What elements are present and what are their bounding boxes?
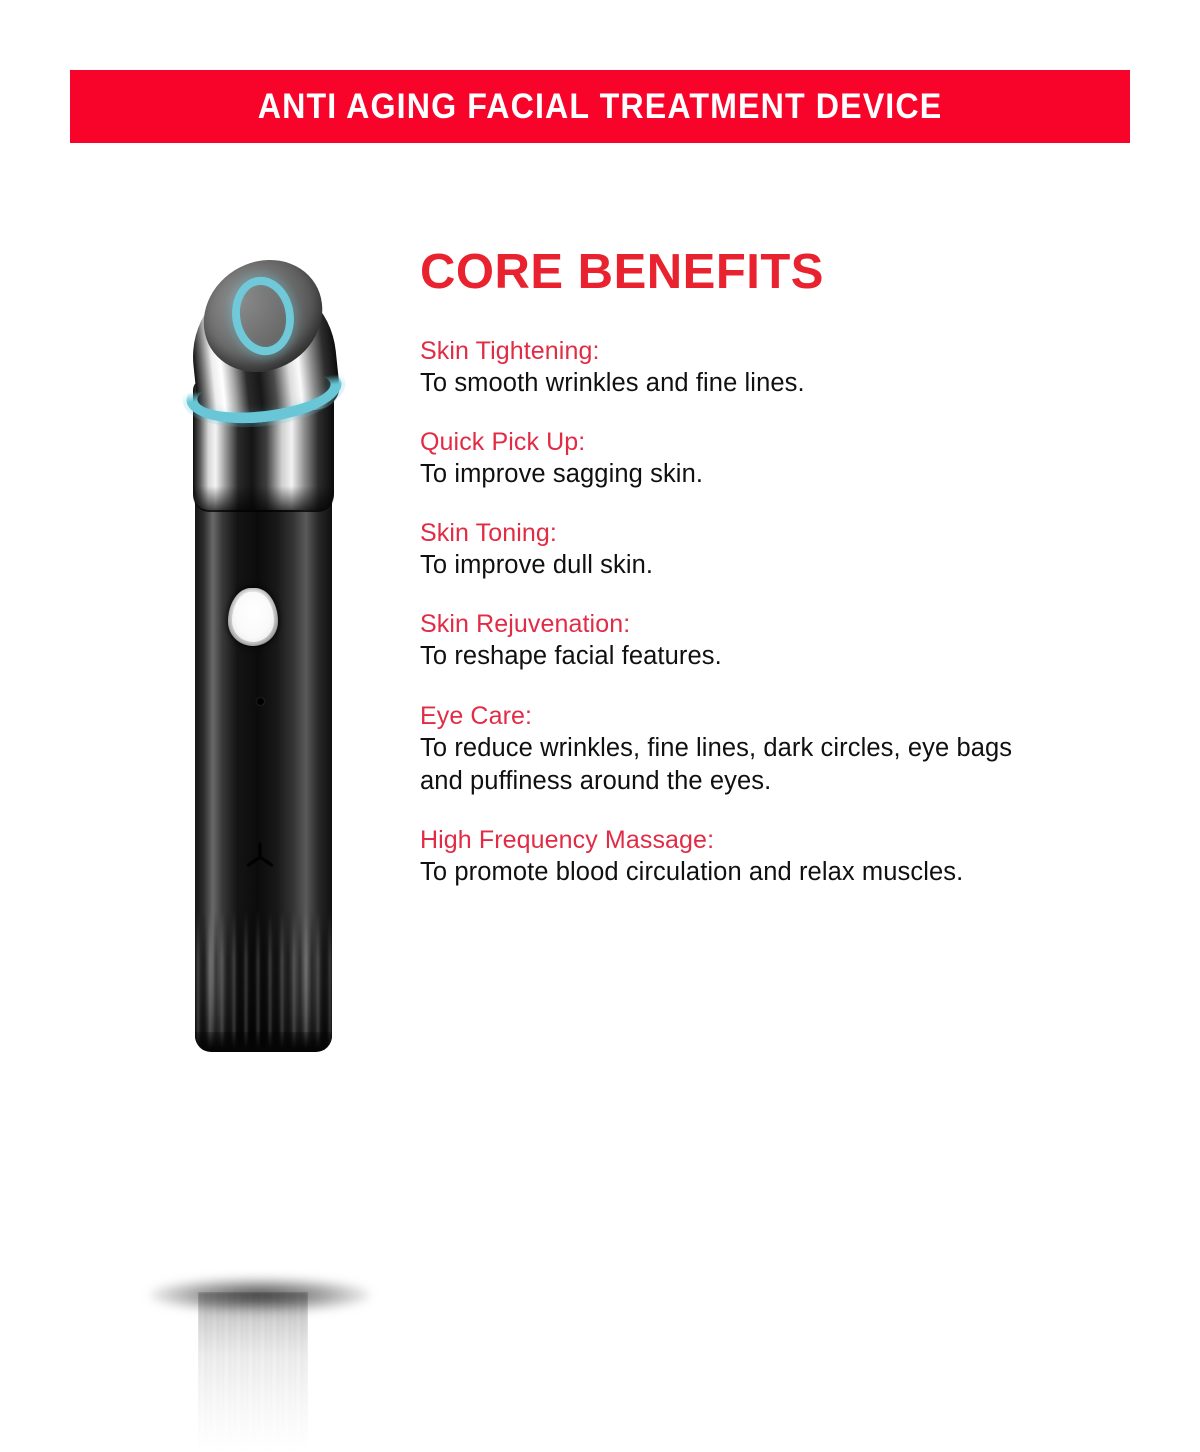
benefit-description: To reshape facial features. — [420, 640, 1060, 673]
benefit-title: Skin Tightening: — [420, 335, 1060, 367]
device-floor-shadow — [150, 1278, 370, 1312]
benefit-title: Quick Pick Up: — [420, 426, 1060, 458]
device-brand-tri-mark — [243, 840, 277, 872]
benefit-item-high-frequency-massage: High Frequency Massage: To promote blood… — [420, 824, 1060, 889]
benefit-item-eye-care: Eye Care: To reduce wrinkles, fine lines… — [420, 700, 1060, 798]
benefit-title: Eye Care: — [420, 700, 1060, 732]
benefit-description: To smooth wrinkles and fine lines. — [420, 367, 1060, 400]
benefit-description: To reduce wrinkles, fine lines, dark cir… — [420, 732, 1060, 798]
benefit-title: Skin Toning: — [420, 517, 1060, 549]
device-reflection — [198, 1292, 308, 1452]
benefit-description: To improve dull skin. — [420, 549, 1060, 582]
facial-device-illustration — [120, 250, 410, 1060]
benefit-description: To improve sagging skin. — [420, 458, 1060, 491]
device-head-teal-ring — [224, 269, 301, 362]
device-base-cap — [195, 1032, 332, 1052]
core-benefits-heading: CORE BENEFITS — [420, 248, 1060, 297]
benefit-item-skin-rejuvenation: Skin Rejuvenation: To reshape facial fea… — [420, 608, 1060, 673]
header-banner: ANTI AGING FACIAL TREATMENT DEVICE — [70, 70, 1130, 143]
device-fluted-base-texture — [195, 910, 332, 1050]
core-benefits-section: CORE BENEFITS Skin Tightening: To smooth… — [420, 248, 1060, 889]
benefit-description: To promote blood circulation and relax m… — [420, 856, 1060, 889]
benefit-title: High Frequency Massage: — [420, 824, 1060, 856]
benefit-item-skin-tightening: Skin Tightening: To smooth wrinkles and … — [420, 335, 1060, 400]
benefit-item-quick-pick-up: Quick Pick Up: To improve sagging skin. — [420, 426, 1060, 491]
benefit-title: Skin Rejuvenation: — [420, 608, 1060, 640]
product-image — [120, 250, 410, 1190]
device-led-indicator — [257, 698, 264, 705]
device-power-button[interactable] — [228, 588, 278, 646]
header-banner-title: ANTI AGING FACIAL TREATMENT DEVICE — [258, 87, 943, 127]
benefit-item-skin-toning: Skin Toning: To improve dull skin. — [420, 517, 1060, 582]
